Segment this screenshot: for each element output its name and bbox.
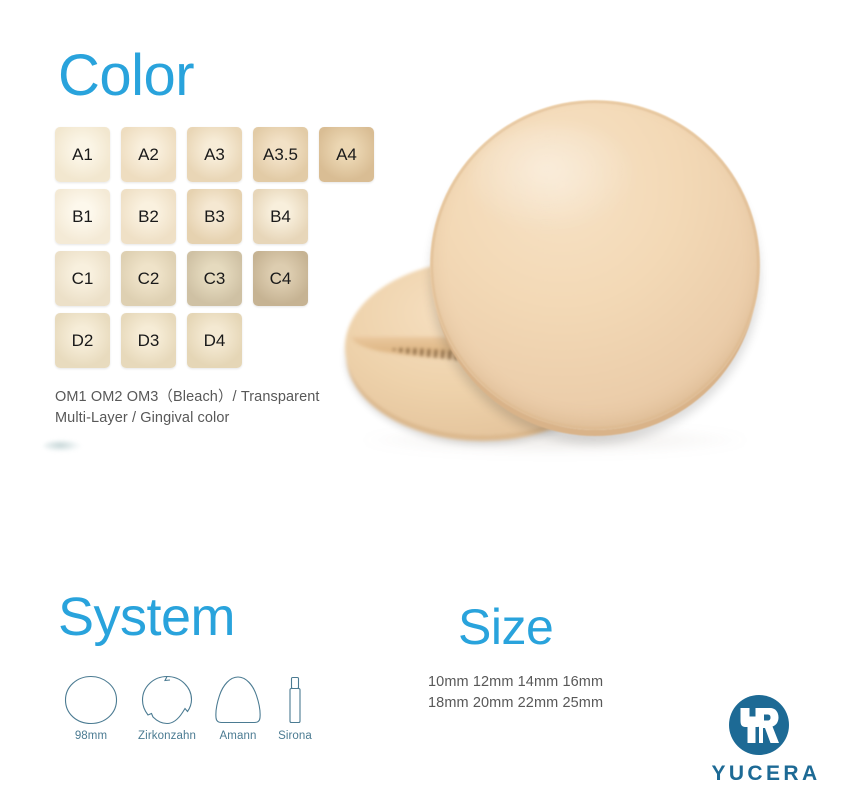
color-swatch-c4[interactable]: C4: [253, 251, 308, 306]
size-line-2: 18mm 20mm 22mm 25mm: [428, 693, 603, 714]
system-item-sirona: Sirona: [269, 672, 321, 742]
color-swatch-b4[interactable]: B4: [253, 189, 308, 244]
color-swatch-label: C2: [138, 269, 160, 289]
color-swatch-label: D4: [204, 331, 226, 351]
color-swatch-label: A3: [204, 145, 225, 165]
color-swatch-a1[interactable]: A1: [55, 127, 110, 182]
system-item-label: Amann: [220, 730, 257, 742]
color-swatch-label: A1: [72, 145, 93, 165]
color-swatch-a3[interactable]: A3: [187, 127, 242, 182]
color-swatch-label: D2: [72, 331, 94, 351]
swatch-row: A1A2A3A3.5A4: [55, 127, 374, 182]
disc-specular-highlight: [470, 125, 640, 235]
swatch-row: B1B2B3B4: [55, 189, 374, 244]
color-swatch-b1[interactable]: B1: [55, 189, 110, 244]
system-item-98mm: 98mm: [55, 672, 127, 742]
color-swatch-label: A2: [138, 145, 159, 165]
disc-drop-shadow: [360, 425, 750, 455]
system-item-zirkonzahn: Zirkonzahn: [127, 672, 207, 742]
smudge-artifact: [43, 440, 81, 452]
round-blank-disc-icon: [63, 672, 119, 726]
color-swatch-c1[interactable]: C1: [55, 251, 110, 306]
color-note-line-1: OM1 OM2 OM3（Bleach）/ Transparent: [55, 385, 320, 406]
size-list: 10mm 12mm 14mm 16mm 18mm 20mm 22mm 25mm: [428, 672, 603, 714]
system-item-label: Zirkonzahn: [138, 730, 196, 742]
color-swatch-label: D3: [138, 331, 160, 351]
color-swatch-c3[interactable]: C3: [187, 251, 242, 306]
color-swatch-d4[interactable]: D4: [187, 313, 242, 368]
color-swatch-label: C3: [204, 269, 226, 289]
system-item-label: 98mm: [75, 730, 107, 742]
color-swatch-a3-5[interactable]: A3.5: [253, 127, 308, 182]
color-swatch-label: A4: [336, 145, 357, 165]
color-swatch-label: B2: [138, 207, 159, 227]
color-swatch-label: B4: [270, 207, 291, 227]
color-swatch-d2[interactable]: D2: [55, 313, 110, 368]
sirona-block-icon: [285, 672, 305, 726]
system-item-amann: Amann: [207, 672, 269, 742]
color-swatch-c2[interactable]: C2: [121, 251, 176, 306]
swatch-row: C1C2C3C4: [55, 251, 374, 306]
brand-logo: YUCERA: [700, 694, 832, 790]
color-swatch-a2[interactable]: A2: [121, 127, 176, 182]
color-swatch-b3[interactable]: B3: [187, 189, 242, 244]
yucera-yr-monogram-icon: [728, 694, 790, 761]
system-item-label: Sirona: [278, 730, 312, 742]
swatch-row: D2D3D4: [55, 313, 374, 368]
color-swatch-d3[interactable]: D3: [121, 313, 176, 368]
color-swatch-label: C4: [270, 269, 292, 289]
product-spec-poster: Color A1A2A3A3.5A4B1B2B3B4C1C2C3C4D2D3D4…: [0, 0, 843, 800]
section-title-system: System: [58, 590, 235, 644]
color-swatch-b2[interactable]: B2: [121, 189, 176, 244]
size-line-1: 10mm 12mm 14mm 16mm: [428, 672, 603, 693]
color-swatch-label: B1: [72, 207, 93, 227]
brand-wordmark: YUCERA: [700, 762, 832, 786]
color-swatch-label: B3: [204, 207, 225, 227]
color-note-line-2: Multi-Layer / Gingival color: [55, 410, 229, 426]
zirconia-disc-photo: [330, 95, 780, 465]
color-swatch-label: A3.5: [263, 145, 298, 165]
amann-dome-blank-icon: [213, 672, 263, 726]
color-swatch-label: C1: [72, 269, 94, 289]
zirkonzahn-notched-disc-icon: [140, 672, 194, 726]
system-compatibility-list: 98mm Zirkonzahn Amann: [55, 672, 321, 742]
section-title-size: Size: [458, 602, 553, 652]
color-swatch-grid: A1A2A3A3.5A4B1B2B3B4C1C2C3C4D2D3D4: [55, 127, 374, 375]
page-title-color: Color: [58, 47, 194, 105]
